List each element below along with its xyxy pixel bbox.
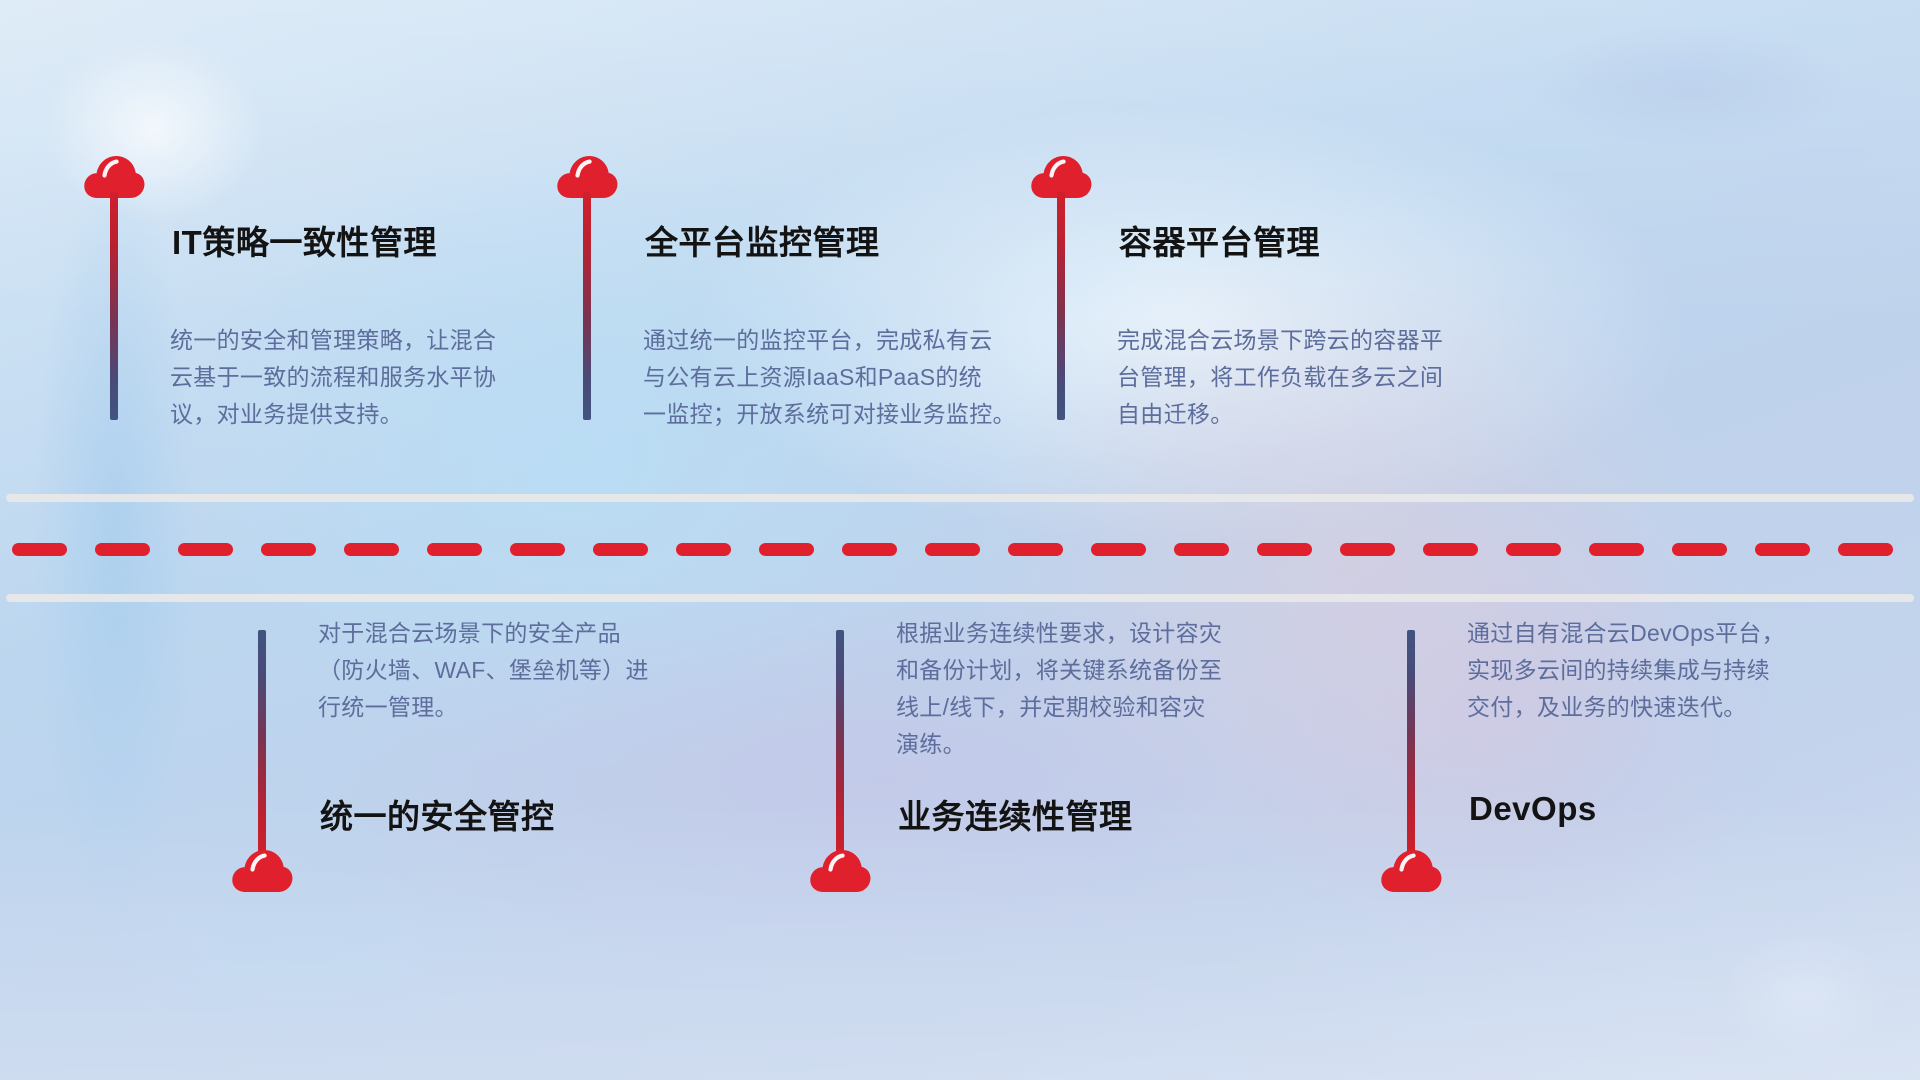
card-title: 业务连续性管理 [898,790,1133,838]
divider-dash [1672,543,1727,556]
cloud-icon [809,845,871,893]
divider-dash [95,543,150,556]
body-line: 通过自有混合云DevOps平台， [1467,615,1817,652]
divider-dash [510,543,565,556]
infographic-canvas: IT策略一致性管理 统一的安全和管理策略，让混合云基于一致的流程和服务水平协议，… [0,0,1920,1080]
divider-dash [759,543,814,556]
divider-dash [1506,543,1561,556]
body-line: 行统一管理。 [318,689,668,726]
body-line: 一监控；开放系统可对接业务监控。 [643,396,993,433]
divider-dash [676,543,731,556]
body-line: 演练。 [896,726,1246,763]
divider-dash [1838,543,1893,556]
card-body: 统一的安全和管理策略，让混合云基于一致的流程和服务水平协议，对业务提供支持。 [170,322,520,433]
divider-dash [1091,543,1146,556]
body-line: 台管理，将工作负载在多云之间 [1117,359,1467,396]
divider-dash [1589,543,1644,556]
divider-dash [925,543,980,556]
card-body: 通过自有混合云DevOps平台，实现多云间的持续集成与持续交付，及业务的快速迭代… [1467,615,1817,726]
cloud-icon [231,845,293,893]
dashed-road-divider [0,540,1920,558]
body-line: 根据业务连续性要求，设计容灾 [896,615,1246,652]
connector-stalk [258,630,266,858]
card-title: 全平台监控管理 [645,216,880,264]
body-line: 通过统一的监控平台，完成私有云 [643,322,993,359]
body-line: （防火墙、WAF、堡垒机等）进 [318,652,668,689]
body-line: 实现多云间的持续集成与持续 [1467,652,1817,689]
body-line: 对于混合云场景下的安全产品 [318,615,668,652]
card-title: IT策略一致性管理 [172,216,437,264]
divider-rule-upper [6,494,1914,502]
card-body: 完成混合云场景下跨云的容器平台管理，将工作负载在多云之间自由迁移。 [1117,322,1467,433]
connector-stalk [836,630,844,858]
body-line: 议，对业务提供支持。 [170,396,520,433]
body-line: 自由迁移。 [1117,396,1467,433]
card-body: 通过统一的监控平台，完成私有云与公有云上资源IaaS和PaaS的统一监控；开放系… [643,322,993,433]
divider-rule-lower [6,594,1914,602]
divider-dash [1174,543,1229,556]
body-line: 线上/线下，并定期校验和容灾 [896,689,1246,726]
divider-dash [593,543,648,556]
divider-dash [1257,543,1312,556]
divider-dash [1423,543,1478,556]
connector-stalk [1057,192,1065,420]
divider-dash [1008,543,1063,556]
card-body: 对于混合云场景下的安全产品（防火墙、WAF、堡垒机等）进行统一管理。 [318,615,668,726]
divider-dash [344,543,399,556]
divider-dash [427,543,482,556]
divider-dash [1755,543,1810,556]
card-title: DevOps [1469,790,1597,828]
divider-dash [261,543,316,556]
cloud-icon [1380,845,1442,893]
body-line: 完成混合云场景下跨云的容器平 [1117,322,1467,359]
divider-dash [842,543,897,556]
card-title: 容器平台管理 [1119,216,1320,264]
connector-stalk [110,192,118,420]
connector-stalk [1407,630,1415,858]
card-body: 根据业务连续性要求，设计容灾和备份计划，将关键系统备份至线上/线下，并定期校验和… [896,615,1246,763]
divider-dash [178,543,233,556]
body-line: 云基于一致的流程和服务水平协 [170,359,520,396]
card-title: 统一的安全管控 [320,790,555,838]
body-line: 与公有云上资源IaaS和PaaS的统 [643,359,993,396]
body-line: 统一的安全和管理策略，让混合 [170,322,520,359]
body-line: 和备份计划，将关键系统备份至 [896,652,1246,689]
body-line: 交付，及业务的快速迭代。 [1467,689,1817,726]
divider-dash [12,543,67,556]
connector-stalk [583,192,591,420]
divider-dash [1340,543,1395,556]
